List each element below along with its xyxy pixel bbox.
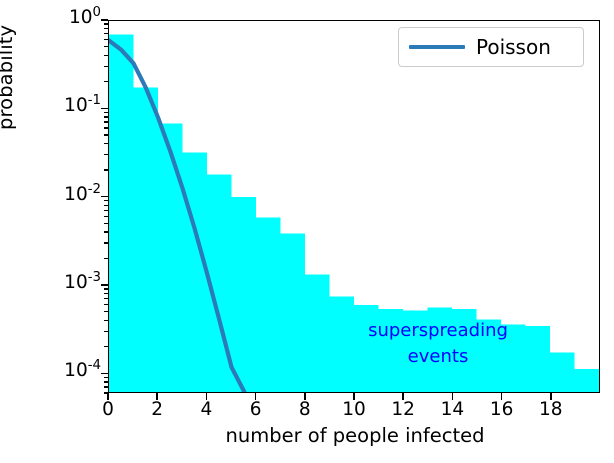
x-tick-label: 4 (186, 399, 226, 420)
superspreading-annotation: superspreading events (322, 318, 554, 369)
y-tick-label: 10-2 (0, 184, 101, 205)
x-tick-label: 12 (383, 399, 423, 420)
y-tick-label: 10-1 (0, 95, 101, 116)
legend: Poisson (398, 27, 584, 67)
x-tick-label: 6 (236, 399, 276, 420)
y-tick-label: 100 (0, 7, 101, 28)
annotation-line-2: events (322, 344, 554, 370)
x-axis-label: number of people infected (0, 424, 614, 447)
y-tick-mark (101, 284, 108, 286)
x-tick-label: 14 (432, 399, 472, 420)
x-tick-label: 18 (531, 399, 571, 420)
chart-figure: probability 10010-110-210-310-4 02468101… (0, 0, 614, 463)
y-tick-label: 10-3 (0, 272, 101, 293)
y-tick-mark (101, 373, 108, 375)
x-tick-label: 0 (88, 399, 128, 420)
x-tick-label: 10 (334, 399, 374, 420)
y-tick-mark (101, 196, 108, 198)
legend-line-swatch (409, 45, 465, 49)
legend-label: Poisson (476, 35, 551, 59)
poisson-line-path (109, 40, 247, 392)
y-tick-label: 10-4 (0, 360, 101, 381)
y-tick-mark (101, 108, 108, 110)
x-tick-label: 8 (285, 399, 325, 420)
annotation-line-1: superspreading (322, 318, 554, 344)
x-tick-label: 2 (137, 399, 177, 420)
y-tick-mark (101, 19, 108, 21)
x-tick-label: 16 (482, 399, 522, 420)
